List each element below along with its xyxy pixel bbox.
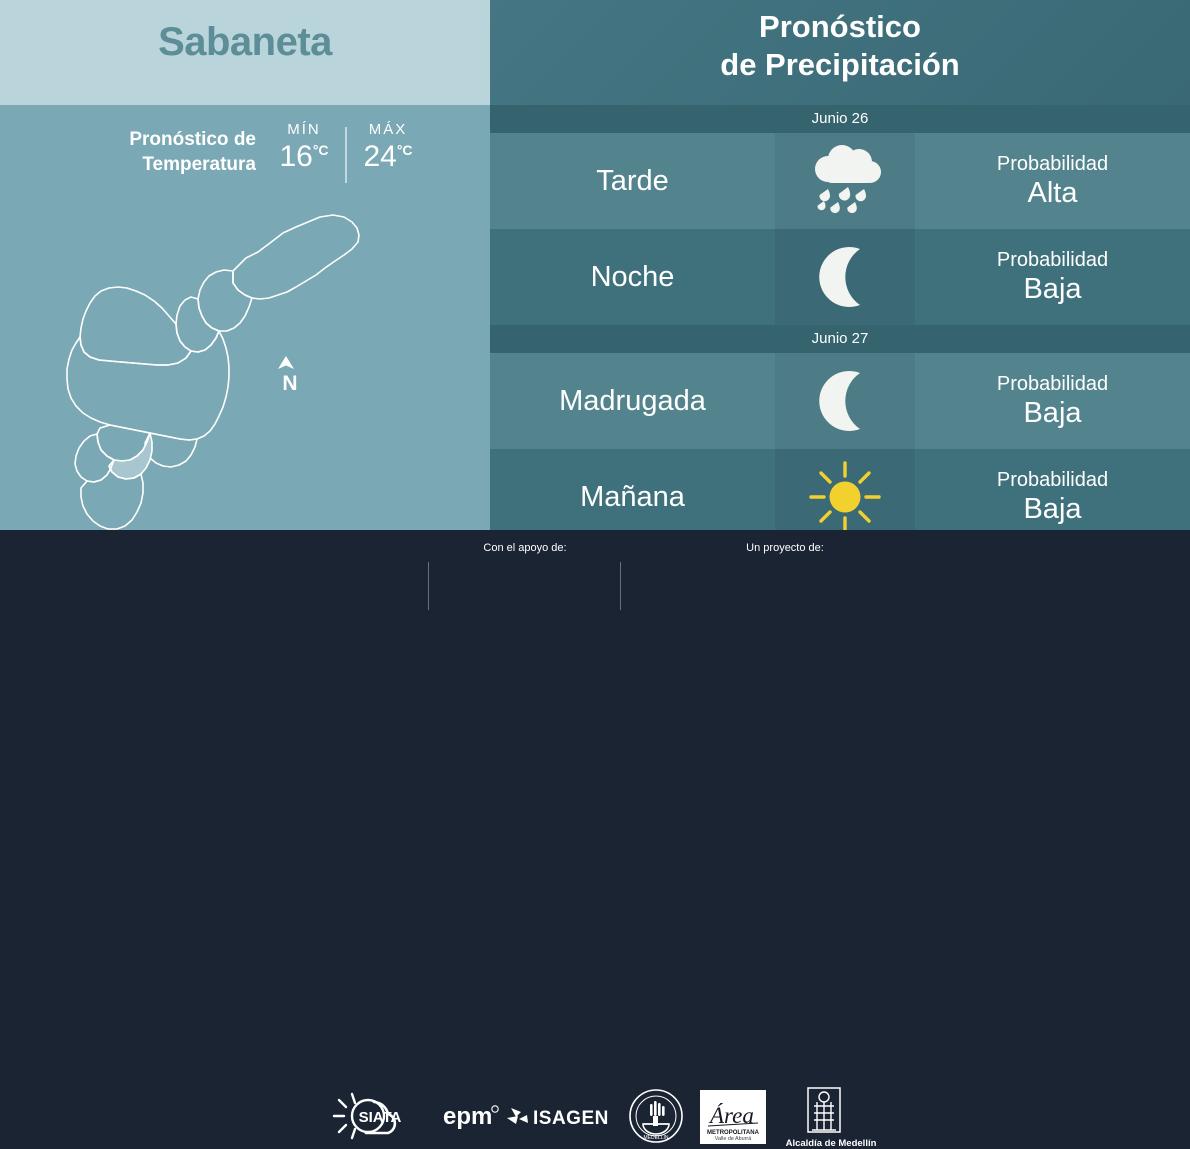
left-body: Pronóstico de Temperatura MÍN 16°C MÁX 2… xyxy=(0,105,490,530)
temperature-label: Pronóstico de Temperatura xyxy=(56,127,256,177)
udem-seal-logo[interactable]: MEDELLÍN xyxy=(628,1088,684,1149)
probability-value: Baja xyxy=(1023,397,1081,430)
moon-icon xyxy=(775,229,915,325)
probability-label: Probabilidad xyxy=(997,248,1108,273)
weather-forecast-card: Sabaneta Pronóstico de Temperatura MÍN 1… xyxy=(0,0,1190,620)
precipitation-forecast-panel: Pronóstico de Precipitación Junio 26 Jun… xyxy=(490,0,1190,530)
probability-noche: Probabilidad Baja xyxy=(915,229,1190,325)
alcaldia-medellin-label: Alcaldía de Medellín xyxy=(771,1138,891,1149)
probability-label: Probabilidad xyxy=(997,152,1108,177)
isagen-logo-text: ISAGEN xyxy=(533,1108,609,1129)
temperature-max-caption: MÁX xyxy=(352,121,424,138)
period-label-noche: Noche xyxy=(490,229,775,325)
city-header: Sabaneta xyxy=(0,0,490,105)
forecast-title-line1: Pronóstico xyxy=(759,9,921,44)
siata-logo[interactable]: SIATA xyxy=(330,1090,425,1147)
project-caption: Un proyecto de: xyxy=(660,542,910,554)
left-panel: Sabaneta Pronóstico de Temperatura MÍN 1… xyxy=(0,0,490,530)
probability-value: Alta xyxy=(1028,177,1078,210)
temperature-max-number: 24 xyxy=(363,140,396,173)
probability-madrugada: Probabilidad Baja xyxy=(915,353,1190,449)
forecast-title: Pronóstico de Precipitación xyxy=(490,8,1190,84)
footer-divider-1 xyxy=(428,562,429,610)
area-logo-sub2: Valle de Aburrá xyxy=(715,1136,751,1142)
temperature-min: MÍN 16°C xyxy=(268,121,340,174)
epm-logo-text: epm xyxy=(443,1103,492,1130)
probability-label: Probabilidad xyxy=(997,468,1108,493)
probability-tarde: Probabilidad Alta xyxy=(915,133,1190,229)
temperature-min-caption: MÍN xyxy=(268,121,340,138)
rain-cloud-icon xyxy=(775,133,915,229)
forecast-row-noche[interactable]: Noche Probabilidad Baja xyxy=(490,229,1190,325)
temperature-max-unit: °C xyxy=(397,142,413,158)
siata-logo-text: SIATA xyxy=(359,1109,402,1126)
temperature-min-value: 16°C xyxy=(268,140,340,174)
probability-value: Baja xyxy=(1023,273,1081,306)
date-header-junio-26: Junio 26 xyxy=(490,105,1190,133)
moon-icon xyxy=(775,353,915,449)
temperature-forecast-block: Pronóstico de Temperatura MÍN 16°C MÁX 2… xyxy=(0,121,490,191)
date-header-junio-27: Junio 27 xyxy=(490,325,1190,353)
udem-seal-text: MEDELLÍN xyxy=(643,1134,668,1141)
probability-value: Baja xyxy=(1023,493,1081,526)
compass-north: N xyxy=(275,355,305,393)
forecast-title-line2: de Precipitación xyxy=(720,47,959,82)
temperature-min-number: 16 xyxy=(279,140,312,173)
page-title: Sabaneta xyxy=(0,20,490,65)
temperature-max: MÁX 24°C xyxy=(352,121,424,174)
temperature-label-line1: Pronóstico de xyxy=(129,129,256,150)
temperature-max-value: 24°C xyxy=(352,140,424,174)
valle-de-aburra-map: N xyxy=(0,195,490,530)
alcaldia-medellin-logo[interactable] xyxy=(800,1086,848,1141)
temperature-min-unit: °C xyxy=(313,142,329,158)
temperature-values: MÍN 16°C MÁX 24°C xyxy=(268,121,428,191)
forecast-row-tarde[interactable]: Tarde xyxy=(490,133,1190,229)
epm-logo[interactable]: epm xyxy=(443,1102,501,1135)
footer: Con el apoyo de: Un proyecto de: SIATA xyxy=(0,530,1190,620)
temperature-label-line2: Temperatura xyxy=(142,154,256,175)
probability-label: Probabilidad xyxy=(997,372,1108,397)
area-metropolitana-logo[interactable]: Área METROPOLITANA Valle de Aburrá xyxy=(700,1090,766,1149)
forecast-row-madrugada[interactable]: Madrugada Probabilidad Baja xyxy=(490,353,1190,449)
period-label-madrugada: Madrugada xyxy=(490,353,775,449)
footer-divider-2 xyxy=(620,562,621,610)
compass-north-letter: N xyxy=(275,375,305,393)
period-label-tarde: Tarde xyxy=(490,133,775,229)
isagen-logo[interactable]: ISAGEN xyxy=(503,1102,615,1135)
temperature-divider xyxy=(345,127,347,183)
support-caption: Con el apoyo de: xyxy=(400,542,650,554)
